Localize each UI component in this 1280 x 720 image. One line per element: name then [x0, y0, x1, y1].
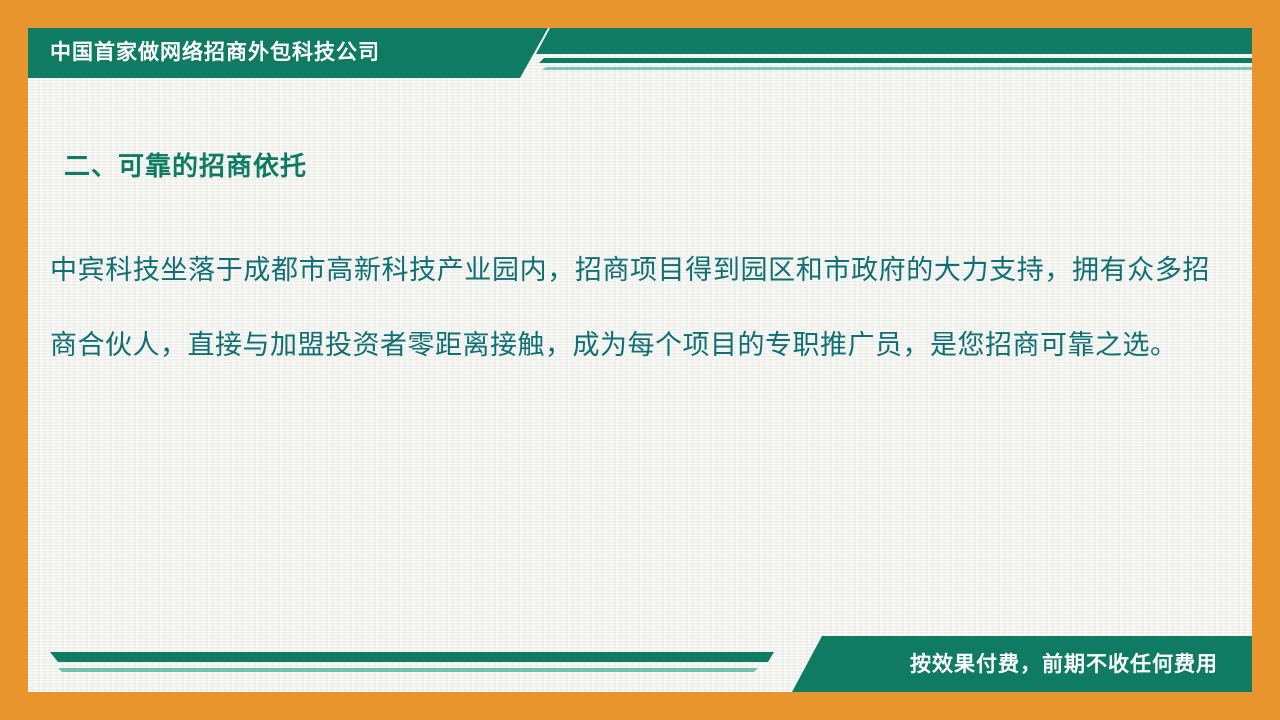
slide-footer: 按效果付费，前期不收任何费用 [28, 636, 1252, 692]
section-heading: 二、可靠的招商依托 [64, 146, 307, 183]
presentation-slide: 中国首家做网络招商外包科技公司 二、可靠的招商依托 中宾科技坐落于成都市高新科技… [0, 0, 1280, 720]
footer-green-bar-shape [50, 652, 774, 662]
footer-tagline: 按效果付费，前期不收任何费用 [910, 648, 1218, 678]
header-green-thin-line-shape [534, 58, 1252, 63]
footer-green-accent-line-shape [58, 668, 758, 672]
slide-content-panel: 中国首家做网络招商外包科技公司 二、可靠的招商依托 中宾科技坐落于成都市高新科技… [28, 28, 1252, 692]
header-green-bar-shape [528, 28, 1252, 54]
slide-header: 中国首家做网络招商外包科技公司 [28, 28, 1252, 78]
header-green-accent-line-shape [540, 67, 1252, 70]
body-paragraph: 中宾科技坐落于成都市高新科技产业园内，招商项目得到园区和市政府的大力支持，拥有众… [50, 233, 1210, 383]
header-title: 中国首家做网络招商外包科技公司 [50, 39, 380, 67]
